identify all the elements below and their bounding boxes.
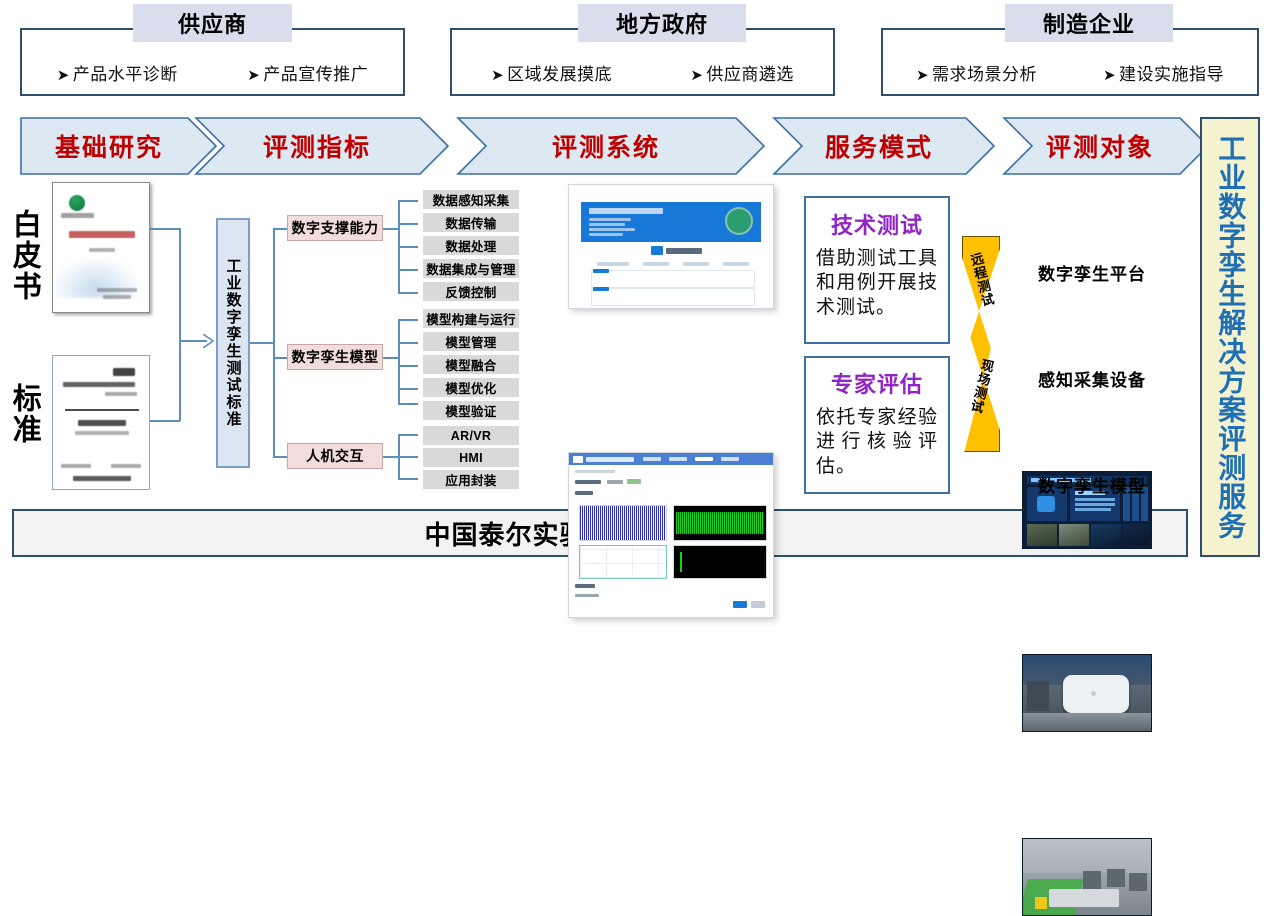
mindmap-leaf: HMI (423, 448, 519, 467)
screenshot-data-row (591, 288, 755, 306)
screenshot-seal-icon (725, 207, 753, 235)
doc-connector-arrowhead-icon (203, 334, 217, 348)
mindmap-leaf: 模型管理 (423, 332, 519, 351)
screenshot-peak-marker (680, 552, 682, 572)
mindmap-leaf: 数据感知采集 (423, 190, 519, 209)
mindmap-category-digital-support: 数字支撑能力 (287, 215, 383, 241)
mindmap-connector (398, 365, 418, 367)
screenshot-hero-meta (589, 223, 625, 226)
stage-label-evaluation-metrics: 评测指标 (204, 117, 430, 175)
standard-rule (65, 409, 139, 411)
mindmap-connector (273, 456, 287, 458)
object-image-equipment (1027, 681, 1049, 711)
mindmap-leaf: 数据处理 (423, 236, 519, 255)
standard-org (63, 382, 135, 387)
standard-title (78, 420, 126, 426)
mindmap-connector (398, 319, 400, 403)
mindmap-leaf: 数据集成与管理 (423, 259, 519, 278)
mindmap-category-hmi: 人机交互 (287, 443, 383, 469)
screenshot-breadcrumb (575, 470, 615, 473)
screenshot-nav-item (669, 457, 687, 461)
mindmap-connector (398, 269, 418, 271)
standard-effective-date (111, 464, 141, 468)
whitepaper-title (69, 231, 135, 238)
screenshot-nav-item-active (695, 457, 713, 461)
service-mode-card-technical-test: 技术测试 借助测试工具和用例开展技术测试。 (804, 196, 950, 344)
screenshot-section-label (575, 491, 593, 495)
object-caption-sensing-device: 感知采集设备 (1012, 366, 1172, 391)
object-image-sensing-device (1022, 654, 1152, 732)
object-image-machine (1129, 873, 1147, 891)
doc-connector (150, 228, 180, 230)
stakeholder-item: ➤供应商遴选 (690, 60, 794, 85)
whitepaper-logo-icon (69, 195, 85, 211)
screenshot-hero-meta (589, 218, 631, 221)
doc-connector (150, 420, 180, 422)
screenshot-tab (683, 262, 709, 266)
stakeholder-title-manufacturer: 制造企业 (1005, 4, 1173, 42)
doc-connector (179, 228, 181, 421)
object-image-panel-icon (1037, 496, 1055, 512)
mindmap-connector (398, 388, 418, 390)
mindmap-connector (398, 403, 418, 405)
object-image-bench (1023, 713, 1151, 731)
stage-label-evaluation-object: 评测对象 (1012, 117, 1188, 175)
mindmap-connector (383, 228, 399, 230)
side-banner: 工业数字孪生解决方案评测服务 (1200, 117, 1260, 557)
standard-mark (113, 368, 135, 376)
screenshot-hero-meta (589, 228, 635, 231)
stakeholder-item: ➤产品水平诊断 (57, 60, 178, 85)
object-caption-twin-platform: 数字孪生平台 (1012, 260, 1172, 285)
stakeholder-item: ➤需求场景分析 (916, 60, 1037, 85)
object-caption-twin-model: 数字孪生模型 (1012, 472, 1172, 497)
standard-publisher (73, 476, 131, 481)
mindmap-connector (383, 456, 399, 458)
object-image-photo-strip (1123, 524, 1149, 546)
mindmap-connector (398, 223, 418, 225)
object-image-panel-text (1075, 503, 1115, 506)
whitepaper-thumbnail (52, 182, 150, 313)
object-image-photo-strip (1027, 524, 1057, 546)
screenshot-tab (643, 262, 669, 266)
mindmap-leaf: 数据传输 (423, 213, 519, 232)
whitepaper-logo-text (61, 213, 94, 218)
whitepaper-footer (103, 295, 131, 299)
mindmap-root: 工业数字孪生测试标准 (216, 218, 250, 468)
screenshot-filter-label (575, 480, 601, 484)
bullet-arrow-icon: ➤ (916, 67, 929, 84)
screenshot-row-tag (593, 287, 609, 291)
object-image-machine (1083, 871, 1101, 889)
mindmap-connector (398, 200, 418, 202)
stage-label-service-mode: 服务模式 (782, 117, 976, 175)
standard-issue-date (61, 464, 91, 468)
bullet-arrow-icon: ➤ (57, 67, 70, 84)
delivery-arrow-label-onsite: 现场测试 (966, 357, 998, 416)
screenshot-hero-title (589, 208, 663, 214)
stakeholder-item: ➤产品宣传推广 (247, 60, 368, 85)
screenshot-hero-meta (589, 233, 623, 236)
screenshot-row-tag (593, 269, 609, 273)
mindmap-leaf: 模型构建与运行 (423, 309, 519, 328)
screenshot-result-value (575, 594, 599, 597)
object-image-device-marking (1091, 691, 1096, 696)
stage-label-evaluation-system: 评测系统 (466, 117, 746, 175)
stakeholder-title-supplier: 供应商 (133, 4, 292, 42)
screenshot-plot-spectrum (673, 505, 767, 541)
screenshot-plot-peaks (673, 545, 767, 579)
stakeholder-title-government: 地方政府 (578, 4, 746, 42)
service-mode-body: 依托专家经验进行核验评估。 (806, 406, 948, 479)
mindmap-connector (250, 342, 274, 344)
mindmap-connector (398, 319, 418, 321)
screenshot-result-label (575, 584, 595, 588)
mindmap-connector (398, 456, 418, 458)
evaluation-system-screenshot-analysis (568, 452, 774, 618)
bullet-arrow-icon: ➤ (690, 67, 703, 84)
stakeholder-item: ➤区域发展摸底 (491, 60, 612, 85)
screenshot-section-title (666, 248, 702, 254)
screenshot-filter-value (607, 480, 623, 484)
bullet-arrow-icon: ➤ (1103, 67, 1116, 84)
screenshot-primary-button (733, 601, 747, 608)
mindmap-connector (398, 478, 418, 480)
mindmap-connector (398, 292, 418, 294)
mindmap-leaf: 模型优化 (423, 378, 519, 397)
screenshot-plot-time-domain (579, 505, 667, 541)
mindmap-leaf: 反馈控制 (423, 282, 519, 301)
standard-thumbnail (52, 355, 150, 490)
object-image-device-body (1063, 675, 1129, 713)
mindmap-connector (398, 434, 418, 436)
mindmap-connector (273, 357, 287, 359)
bullet-arrow-icon: ➤ (247, 67, 260, 84)
screenshot-nav-logo (573, 456, 583, 463)
mindmap-category-twin-model: 数字孪生模型 (287, 344, 383, 370)
mindmap-leaf: AR/VR (423, 426, 519, 445)
stage-label-basic-research: 基础研究 (21, 117, 197, 175)
screenshot-filter-chip (627, 479, 641, 484)
object-image-twin-model (1022, 838, 1152, 916)
standard-subtitle (75, 431, 129, 435)
screenshot-secondary-button (751, 601, 765, 608)
bullet-arrow-icon: ➤ (491, 67, 504, 84)
standard-code (105, 392, 137, 396)
mindmap-leaf: 应用封装 (423, 470, 519, 489)
doc-label-standard: 标准 (4, 375, 44, 453)
screenshot-data-row (591, 270, 755, 288)
object-image-panel-text (1075, 498, 1115, 501)
object-image-panel-text (1075, 508, 1111, 511)
screenshot-tab (597, 262, 629, 266)
service-mode-body: 借助测试工具和用例开展技术测试。 (806, 247, 948, 320)
mindmap-connector (398, 246, 418, 248)
mindmap-connector (273, 228, 275, 457)
evaluation-system-screenshot-report (568, 184, 774, 309)
screenshot-plot-trend (579, 545, 667, 579)
screenshot-nav-item (721, 457, 739, 461)
mindmap-leaf: 模型验证 (423, 401, 519, 420)
mindmap-connector (398, 342, 418, 344)
screenshot-nav-item (643, 457, 661, 461)
stakeholder-item: ➤建设实施指导 (1103, 60, 1224, 85)
screenshot-nav-title (586, 457, 634, 462)
object-image-photo-strip (1091, 524, 1121, 546)
service-mode-card-expert-review: 专家评估 依托专家经验进行核验评估。 (804, 356, 950, 494)
service-mode-title: 技术测试 (806, 208, 948, 240)
object-image-robot-arm (1035, 897, 1047, 909)
doc-label-whitepaper: 白皮书 (4, 200, 44, 310)
object-image-conveyor (1049, 889, 1119, 907)
screenshot-tab (723, 262, 749, 266)
screenshot-section-number (651, 246, 663, 255)
object-image-machine (1107, 869, 1125, 887)
mindmap-leaf: 模型融合 (423, 355, 519, 374)
mindmap-connector (273, 228, 287, 230)
mindmap-connector (383, 357, 399, 359)
whitepaper-footer (97, 288, 137, 292)
object-image-photo-strip (1059, 524, 1089, 546)
service-mode-title: 专家评估 (806, 367, 948, 399)
